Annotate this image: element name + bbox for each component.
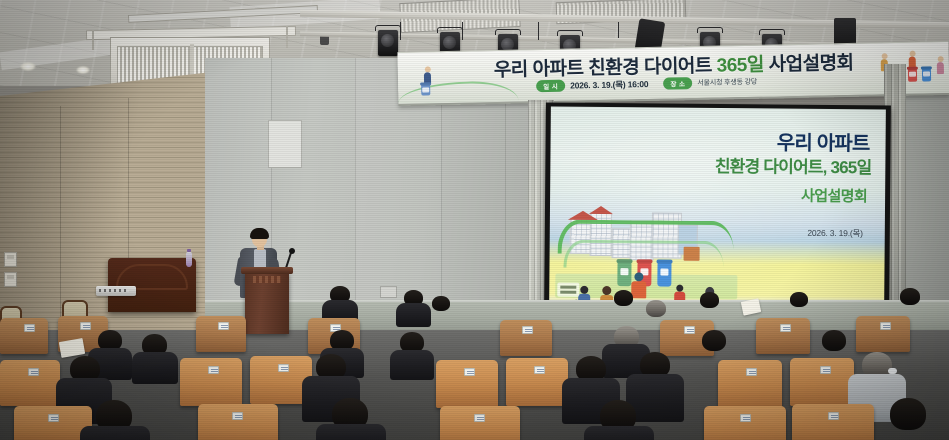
banner-date-pill: 일 시 (536, 80, 565, 93)
podium-emblem (253, 276, 281, 283)
banner-bin-blue (922, 68, 931, 81)
man-orange-head (634, 272, 643, 281)
seat-r3-7[interactable] (756, 318, 810, 354)
av-control-console[interactable] (96, 286, 136, 296)
light-cable-4 (618, 22, 619, 38)
attendee-head-far-6 (790, 292, 808, 307)
attendee-head-far-5 (700, 292, 719, 308)
banner-place-pill: 장 소 (663, 77, 692, 90)
child-red-head (676, 285, 683, 292)
wall-seam-1 (60, 106, 61, 320)
seat-tag (218, 322, 229, 330)
bin-lid-red (907, 67, 918, 70)
podium-top-surface (241, 267, 293, 274)
seat-r2-5[interactable] (506, 358, 568, 406)
slide-title-line2: 친환경 다이어트, 365일 (715, 152, 872, 178)
presenter-hair (250, 228, 269, 239)
banner-title-365: 365일 (716, 55, 764, 77)
head-table (108, 258, 196, 312)
attendee-torso-r1-3 (584, 426, 654, 440)
slide-bin-blue (657, 262, 671, 286)
attendee-head-r3-7 (822, 330, 846, 351)
banner-date-value: 2026. 3. 19.(목) 16:00 (570, 78, 649, 92)
banner-mascot-bin (421, 84, 430, 95)
slide-logo (557, 283, 579, 297)
slide-date: 2026. 3. 19.(목) (807, 227, 862, 239)
attendee-torso-r3-4 (390, 350, 434, 380)
seat-r2-1[interactable] (0, 360, 60, 406)
slide-box-held (684, 247, 700, 261)
attendee-head-r3-6 (702, 330, 726, 351)
stage-light-1 (378, 30, 398, 56)
banner-place-value: 서울시청 후생동 강당 (697, 77, 757, 88)
light-cable-3 (538, 22, 539, 40)
seat-tag (820, 366, 831, 374)
seat-tag (880, 322, 891, 330)
slide-line2-text: 친환경 다이어트, (715, 157, 831, 177)
attendee-head-r1-4 (890, 398, 926, 430)
podium (245, 272, 289, 334)
slide-title-line3: 사업설명회 (801, 185, 867, 207)
light-cable-1 (400, 22, 401, 40)
purple-water-bottle (186, 252, 192, 267)
attendee-head-far-3 (432, 296, 450, 311)
seat-r3-5[interactable] (500, 320, 552, 356)
seat-r2-7[interactable] (790, 358, 854, 406)
seat-tag (780, 324, 791, 332)
attendee-head-far-4 (614, 290, 633, 306)
seat-r3-1[interactable] (0, 318, 48, 354)
seat-tag (534, 366, 545, 374)
seat-tag (278, 364, 289, 372)
attendee-torso-far-2 (396, 303, 431, 327)
banner-bin-red (908, 69, 917, 82)
seat-tag (48, 414, 59, 422)
attendee-head-far-7 (646, 300, 666, 317)
seat-tag (740, 414, 751, 422)
bin-lid (420, 82, 431, 85)
wall-whiteboard (268, 120, 302, 168)
slide-line2-365: 365일 (830, 158, 871, 177)
woman-head (602, 286, 611, 295)
seat-tag (746, 368, 757, 376)
attendee-torso-r1-1 (80, 426, 150, 440)
seat-tag (522, 326, 533, 334)
person-head (580, 286, 588, 294)
seat-tag (24, 324, 35, 332)
seat-tag (474, 414, 485, 422)
wall-plate-upper[interactable] (4, 252, 17, 267)
slide-illustration (555, 182, 738, 300)
seat-tag (828, 412, 839, 420)
seat-r2-4[interactable] (436, 360, 498, 408)
seat-tag (684, 326, 695, 334)
seat-tag (208, 366, 219, 374)
microphone-head (289, 248, 295, 254)
seat-r1-5[interactable] (792, 404, 874, 440)
seat-tag (28, 368, 39, 376)
auditorium-photo: 우리 아파트 친환경 다이어트 365일 사업설명회 일 시 2026. 3. … (0, 0, 949, 440)
slide-bin-green (617, 262, 631, 286)
banner-title-tail: 사업설명회 (764, 53, 854, 76)
ac-rod-1 (92, 30, 94, 50)
wall-plate-lower[interactable] (4, 272, 17, 287)
attendee-torso-r1-2 (316, 424, 386, 440)
ac-rod-2 (286, 26, 288, 48)
seat-r3-3[interactable] (196, 316, 246, 352)
downlight-1 (20, 62, 36, 71)
projection-screen-frame: 우리 아파트 친환경 다이어트, 365일 사업설명회 2026. 3. 19.… (544, 102, 891, 313)
bin-lid-blue (921, 66, 932, 69)
seat-tag (232, 412, 243, 420)
seat-tag (80, 322, 91, 330)
seat-r1-2[interactable] (198, 404, 278, 440)
attendee-torso-r3-2 (132, 352, 178, 384)
seat-r1-4[interactable] (704, 406, 786, 440)
banner-person-3-body (937, 62, 944, 74)
projection-screen: 우리 아파트 친환경 다이어트, 365일 사업설명회 2026. 3. 19.… (549, 107, 886, 305)
wall-seam-2 (128, 98, 129, 268)
seat-tag (464, 368, 475, 376)
seat-r2-6[interactable] (718, 360, 782, 408)
face-mask-r2-5 (888, 368, 897, 374)
seat-r3-8[interactable] (856, 316, 910, 352)
event-banner: 우리 아파트 친환경 다이어트 365일 사업설명회 일 시 2026. 3. … (397, 41, 949, 106)
seat-r2-2[interactable] (180, 358, 242, 406)
building-2-roof (589, 206, 613, 214)
downlight-2 (76, 66, 90, 74)
attendee-head-far-8 (900, 288, 920, 305)
wall-outlet-panel[interactable] (380, 286, 397, 298)
seat-r1-3[interactable] (440, 406, 520, 440)
stage-top-edge (205, 300, 949, 302)
man-orange-body (631, 281, 646, 298)
